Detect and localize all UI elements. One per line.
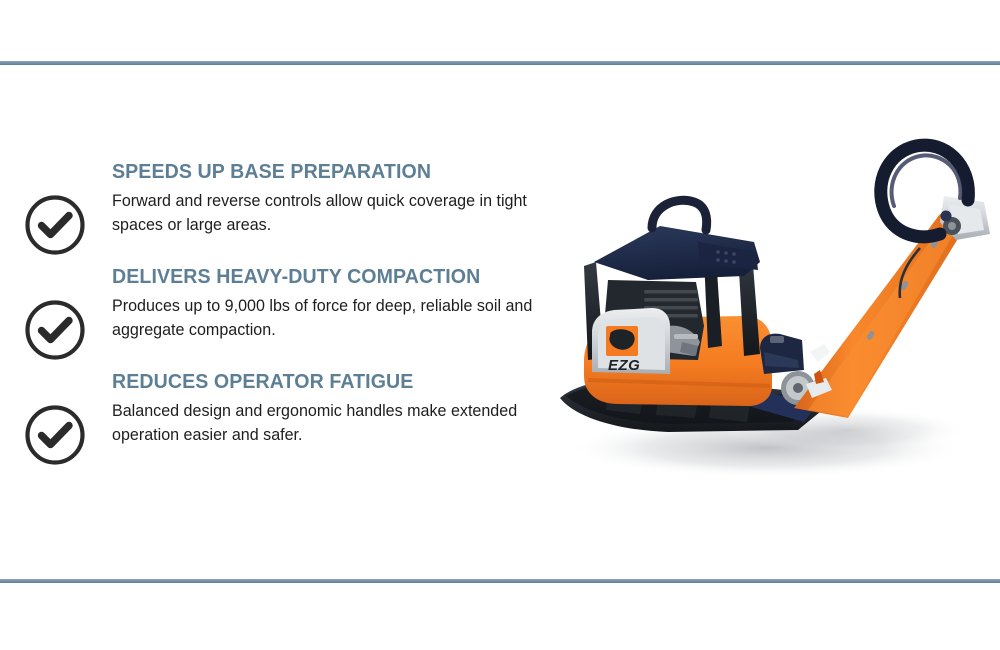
feature-title: SPEEDS UP BASE PREPARATION bbox=[112, 160, 568, 184]
feature-item: REDUCES OPERATOR FATIGUE Balanced design… bbox=[0, 370, 590, 462]
feature-title: DELIVERS HEAVY-DUTY COMPACTION bbox=[112, 265, 568, 289]
handle-knob bbox=[941, 211, 952, 222]
lift-handle bbox=[652, 200, 707, 230]
feature-description: Balanced design and ergonomic handles ma… bbox=[112, 400, 570, 447]
top-divider-rule bbox=[0, 61, 1000, 65]
feature-item: DELIVERS HEAVY-DUTY COMPACTION Produces … bbox=[0, 265, 590, 357]
check-circle-icon bbox=[24, 194, 86, 256]
feature-title: REDUCES OPERATOR FATIGUE bbox=[112, 370, 568, 394]
product-image-plate-compactor: EZG bbox=[548, 130, 1000, 500]
check-circle-icon bbox=[24, 404, 86, 466]
slide-canvas: SPEEDS UP BASE PREPARATION Forward and r… bbox=[0, 0, 1000, 650]
brand-wordmark: EZG bbox=[608, 357, 640, 374]
throttle-lever bbox=[810, 344, 830, 362]
bull-head-icon bbox=[610, 330, 634, 349]
feature-description: Forward and reverse controls allow quick… bbox=[112, 190, 570, 237]
feature-list: SPEEDS UP BASE PREPARATION Forward and r… bbox=[0, 160, 590, 462]
feature-description: Produces up to 9,000 lbs of force for de… bbox=[112, 295, 570, 342]
check-circle-icon bbox=[24, 299, 86, 361]
bottom-divider-rule bbox=[0, 579, 1000, 583]
feature-item: SPEEDS UP BASE PREPARATION Forward and r… bbox=[0, 160, 590, 252]
